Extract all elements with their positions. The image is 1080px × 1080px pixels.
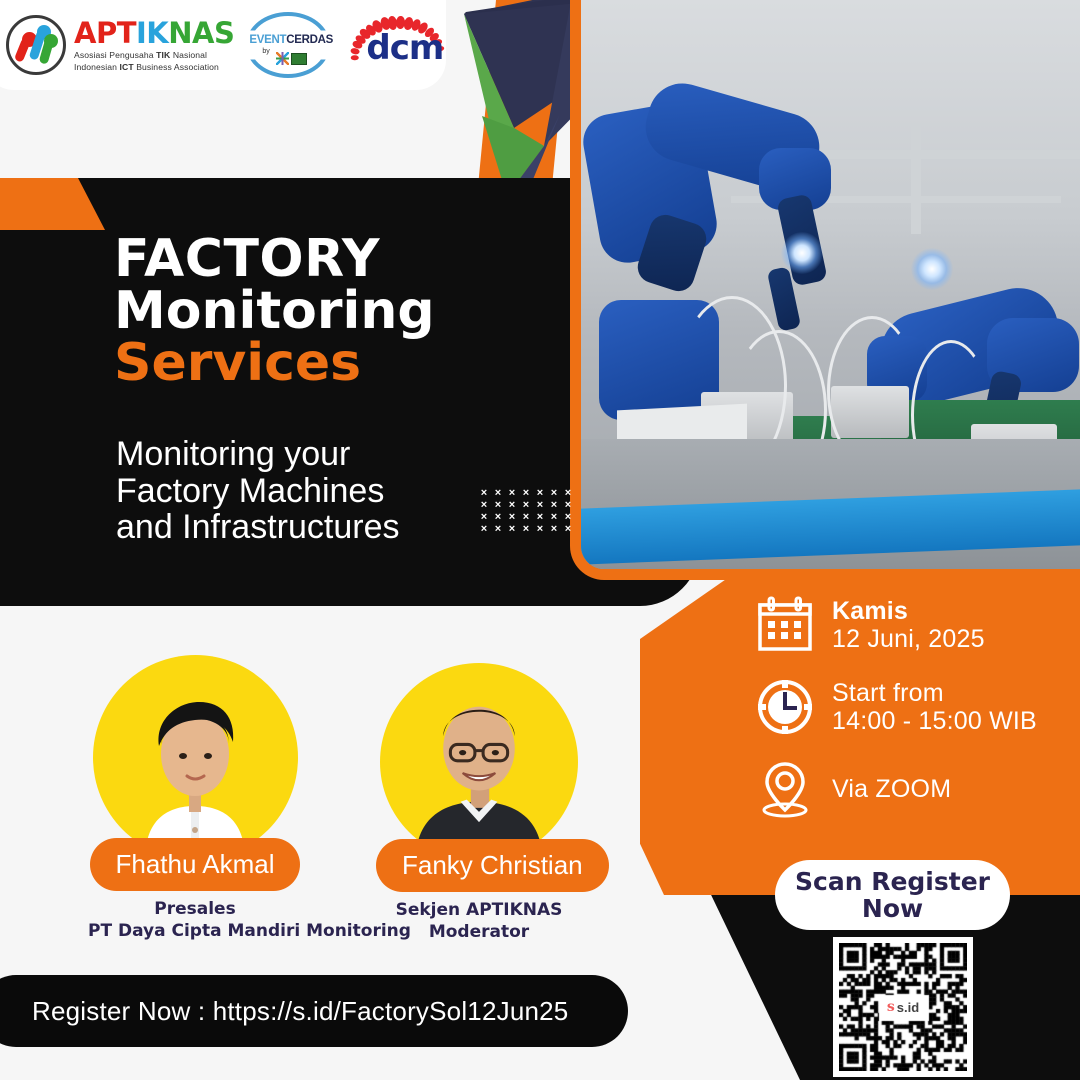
sid-mark-icon: s [887,999,895,1015]
speaker-role-line-2-0: PT Daya Cipta Mandiri Monitoring [88,920,302,942]
avatar [93,655,298,860]
qr-center-label: s s.id [882,996,924,1018]
info-time-text: Start from 14:00 - 15:00 WIB [832,679,1037,735]
register-link-bar[interactable]: Register Now : https://s.id/FactorySol12… [0,975,628,1047]
partner-logo-bar: APTIKNAS Asosiasi Pengusaha TIK Nasional… [0,0,446,90]
location-pin-icon [756,760,814,818]
info-time-line-1: Start from [832,679,1037,707]
sid-label-text: s.id [897,1000,919,1015]
title-line-1: FACTORY [114,232,435,286]
speaker-role-line-2-1: Moderator [376,921,582,943]
scan-button-line-1: Scan Register [795,868,990,896]
info-place-text: Via ZOOM [832,775,951,803]
clock-icon [756,678,814,736]
speaker-portrait-1 [397,677,561,861]
event-info-list: Kamis 12 Juni, 2025 Start from 14:00 - [756,596,1037,842]
subtitle-line-1: Monitoring your [116,436,399,473]
title-line-2: Monitoring [114,284,435,338]
avatar [380,663,578,861]
factory-robots-photo [570,0,1080,580]
eventcerdas-by-label: by [262,48,269,55]
subtitle: Monitoring your Factory Machines and Inf… [116,436,399,546]
event-poster: FACTORY Monitoring Services Monitoring y… [0,0,1080,1080]
aptiknas-wordmark: APTIKNAS Asosiasi Pengusaha TIK Nasional… [74,19,234,71]
aptiknas-mark-icon [6,15,66,75]
info-date-text: Kamis 12 Juni, 2025 [832,597,985,653]
speaker-name-0: Fhathu Akmal [90,838,301,891]
eventcerdas-partner-icon [276,52,307,65]
star-icon [276,52,289,65]
scan-register-button[interactable]: Scan Register Now [775,860,1010,930]
speaker-card-1: Fanky Christian Sekjen APTIKNAS Moderato… [376,663,582,944]
aptiknas-logo: APTIKNAS Asosiasi Pengusaha TIK Nasional… [6,15,234,75]
subtitle-line-3: and Infrastructures [116,509,399,546]
aptiknas-tagline-line-2: Indonesian ICT Business Association [74,63,234,72]
aptiknas-tagline-line-1: Asosiasi Pengusaha TIK Nasional [74,51,234,60]
info-date-line-2: 12 Juni, 2025 [832,625,985,653]
aptiknas-word-part-1: IK [136,16,168,50]
aptiknas-word-part-2: NAS [168,16,234,50]
info-date-line-1: Kamis [832,597,985,625]
speaker-portrait-0 [115,680,275,860]
info-place-line-1: Via ZOOM [832,775,951,803]
x-dot-pattern: ×××××××××××××××××××××××××××× [477,487,575,535]
speaker-card-0: Fhathu Akmal Presales PT Daya Cipta Mand… [88,655,302,943]
dcm-wordmark: dcm [366,28,443,68]
scan-button-line-2: Now [795,895,990,923]
badge-icon [291,53,307,65]
speaker-role-line-1-0: Presales [88,898,302,920]
qr-code[interactable]: s s.id [833,937,973,1077]
info-time-line-2: 14:00 - 15:00 WIB [832,707,1037,735]
info-row-place: Via ZOOM [756,760,1037,818]
title-line-3: Services [114,336,435,390]
qr-matrix: s s.id [839,943,967,1071]
speaker-role-line-1-1: Sekjen APTIKNAS [376,899,582,921]
aptiknas-word-part-0: APT [74,16,136,50]
register-link-text: Register Now : https://s.id/FactorySol12… [32,996,568,1027]
calendar-icon [756,596,814,654]
photo-canvas [581,0,1080,569]
info-row-date: Kamis 12 Juni, 2025 [756,596,1037,654]
eventcerdas-wordmark: EVENTCERDAS [249,34,333,46]
eventcerdas-logo: EVENTCERDAS by [246,10,330,80]
speaker-name-1: Fanky Christian [376,839,609,892]
dcm-logo: dcm [342,14,452,76]
page-title: FACTORY Monitoring Services [114,232,435,390]
info-row-time: Start from 14:00 - 15:00 WIB [756,678,1037,736]
subtitle-line-2: Factory Machines [116,473,399,510]
